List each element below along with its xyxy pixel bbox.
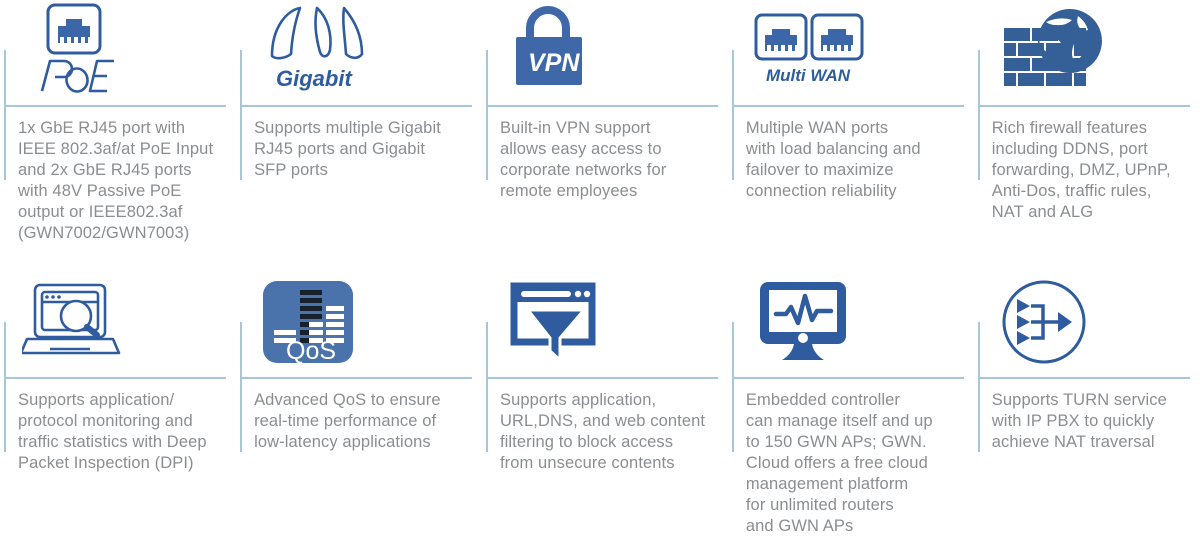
gigabit-wings-icon: Gigabit: [262, 4, 372, 96]
feature-description: Supports application, URL,DNS, and web c…: [500, 390, 710, 474]
firewall-brick-globe-icon: [1000, 6, 1104, 94]
feature-card-firewall: Rich firewall features including DDNS, p…: [974, 0, 1200, 272]
divider-horizontal: [4, 377, 226, 379]
divider-horizontal: [732, 105, 964, 107]
feature-row-2: Supports application/ protocol monitorin…: [0, 272, 1200, 544]
multi-wan-icon: Multi WAN: [754, 13, 866, 87]
multi-wan-icon-area: Multi WAN: [728, 0, 974, 100]
feature-description: Multiple WAN ports with load balancing a…: [746, 118, 956, 202]
feature-description: Supports multiple Gigabit RJ45 ports and…: [254, 118, 464, 181]
laptop-magnifier-icon: [22, 282, 122, 362]
feature-card-poe: 1x GbE RJ45 port with IEEE 802.3af/at Po…: [0, 0, 236, 272]
qos-label: QoS: [286, 337, 336, 364]
feature-grid: 1x GbE RJ45 port with IEEE 802.3af/at Po…: [0, 0, 1200, 544]
vpn-lock-icon: VPN: [508, 4, 600, 96]
gigabit-icon-area: Gigabit: [236, 0, 482, 100]
feature-description: Rich firewall features including DDNS, p…: [992, 118, 1182, 223]
divider-horizontal: [240, 377, 472, 379]
nat-traversal-circle-icon: [1000, 278, 1088, 366]
divider-horizontal: [978, 105, 1190, 107]
divider-horizontal: [486, 377, 718, 379]
divider-horizontal: [4, 105, 226, 107]
feature-card-dpi: Supports application/ protocol monitorin…: [0, 272, 236, 544]
feature-card-gigabit: Gigabit Supports multiple Gigabit RJ45 p…: [236, 0, 482, 272]
turn-icon-area: [974, 272, 1200, 372]
feature-card-turn: Supports TURN service with IP PBX to qui…: [974, 272, 1200, 544]
feature-card-vpn: VPN Built-in VPN support allows easy acc…: [482, 0, 728, 272]
vpn-icon-area: VPN: [482, 0, 728, 100]
feature-description: Built-in VPN support allows easy access …: [500, 118, 710, 202]
divider-horizontal: [732, 377, 964, 379]
feature-card-multi-wan: Multi WAN Multiple WAN ports with load b…: [728, 0, 974, 272]
browser-funnel-filter-icon: [508, 278, 604, 366]
monitor-pulse-icon: [754, 278, 858, 366]
divider-horizontal: [240, 105, 472, 107]
qos-equalizer-icon: QoS: [262, 280, 354, 364]
feature-description: Supports TURN service with IP PBX to qui…: [992, 390, 1182, 453]
feature-description: Supports application/ protocol monitorin…: [18, 390, 218, 474]
feature-row-1: 1x GbE RJ45 port with IEEE 802.3af/at Po…: [0, 0, 1200, 272]
multi-wan-label: Multi WAN: [766, 66, 851, 85]
feature-card-content-filter: Supports application, URL,DNS, and web c…: [482, 272, 728, 544]
gigabit-label: Gigabit: [276, 66, 353, 91]
feature-card-qos: QoS Advanced QoS to ensure real-time per…: [236, 272, 482, 544]
content-filter-icon-area: [482, 272, 728, 372]
feature-description: Advanced QoS to ensure real-time perform…: [254, 390, 464, 453]
dpi-icon-area: [0, 272, 236, 372]
firewall-icon-area: [974, 0, 1200, 100]
poe-icon-area: [0, 0, 236, 100]
vpn-label: VPN: [528, 49, 580, 77]
feature-description: Embedded controller can manage itself an…: [746, 390, 956, 537]
divider-horizontal: [978, 377, 1190, 379]
controller-icon-area: [728, 272, 974, 372]
feature-card-controller: Embedded controller can manage itself an…: [728, 272, 974, 544]
feature-description: 1x GbE RJ45 port with IEEE 802.3af/at Po…: [18, 118, 218, 244]
qos-icon-area: QoS: [236, 272, 482, 372]
divider-horizontal: [486, 105, 718, 107]
poe-rj45-icon: [22, 3, 118, 97]
